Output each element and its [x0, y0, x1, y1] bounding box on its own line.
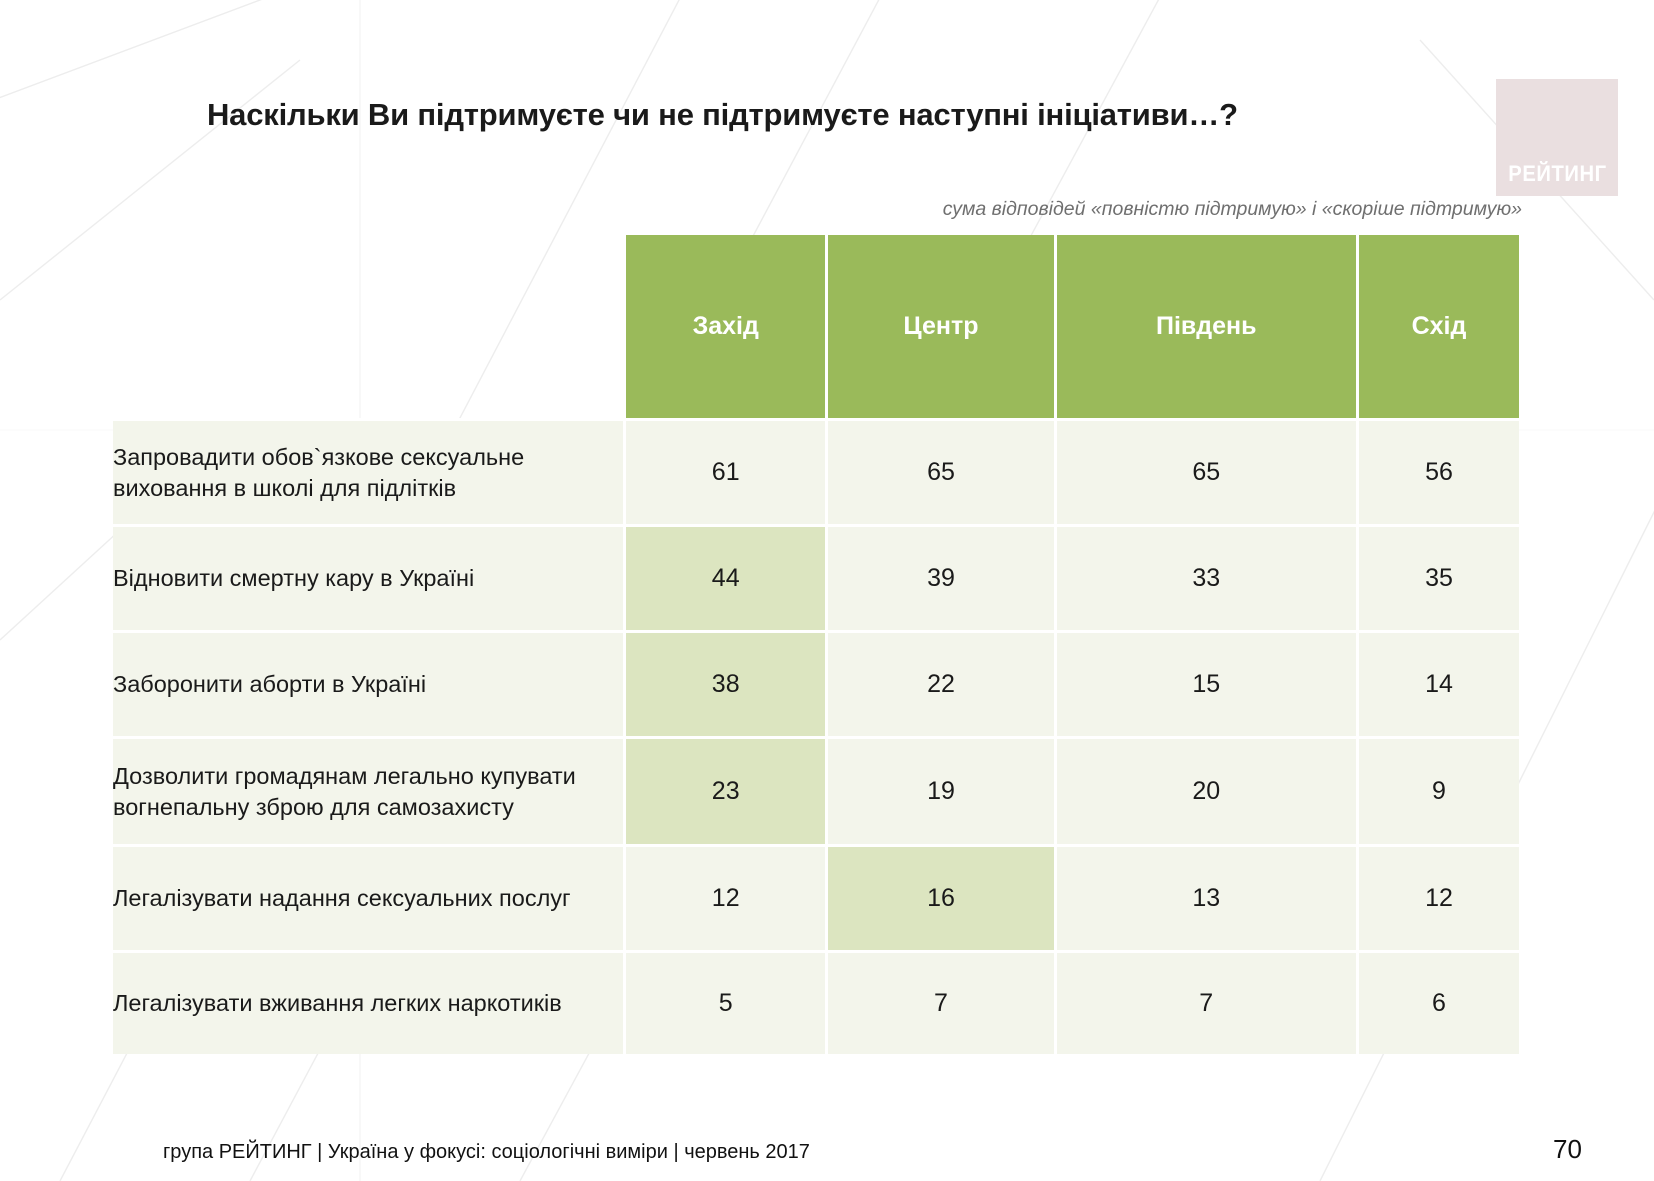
cell-value: 7 [1057, 950, 1359, 1054]
cell-value: 39 [828, 524, 1056, 630]
cell-value-highlighted: 44 [626, 524, 828, 630]
cell-value: 12 [1359, 844, 1519, 950]
cell-value: 35 [1359, 524, 1519, 630]
row-label: Заборонити аборти в Україні [113, 630, 626, 736]
table-row: Запровадити обов`язкове сексуальне вихов… [113, 418, 1519, 524]
cell-value-highlighted: 23 [626, 736, 828, 844]
cell-value: 13 [1057, 844, 1359, 950]
rating-logo-text: РЕЙТИНГ [1508, 161, 1606, 187]
cell-value-highlighted: 38 [626, 630, 828, 736]
column-header-pivden: Південь [1057, 235, 1359, 418]
row-label: Легалізувати надання сексуальних послуг [113, 844, 626, 950]
cell-value: 65 [1057, 418, 1359, 524]
cell-value: 6 [1359, 950, 1519, 1054]
cell-value: 61 [626, 418, 828, 524]
header-corner-blank [113, 235, 626, 418]
row-label: Легалізувати вживання легких наркотиків [113, 950, 626, 1054]
cell-value: 14 [1359, 630, 1519, 736]
cell-value: 33 [1057, 524, 1359, 630]
table-row: Дозволити громадянам легально купувати в… [113, 736, 1519, 844]
cell-value: 15 [1057, 630, 1359, 736]
column-header-tsentr: Центр [828, 235, 1056, 418]
cell-value: 9 [1359, 736, 1519, 844]
results-table: Захід Центр Південь Схід Запровадити обо… [113, 235, 1519, 1054]
row-label: Запровадити обов`язкове сексуальне вихов… [113, 418, 626, 524]
cell-value: 20 [1057, 736, 1359, 844]
chart-subtitle: сума відповідей «повністю підтримую» і «… [943, 198, 1522, 221]
cell-value: 56 [1359, 418, 1519, 524]
page-title: Наскільки Ви підтримуєте чи не підтримує… [207, 97, 1307, 133]
table-row: Легалізувати надання сексуальних послуг … [113, 844, 1519, 950]
footer-source: група РЕЙТИНГ | Україна у фокусі: соціол… [163, 1141, 810, 1164]
cell-value-highlighted: 16 [828, 844, 1056, 950]
table-row: Заборонити аборти в Україні 38 22 15 14 [113, 630, 1519, 736]
table-row: Відновити смертну кару в Україні 44 39 3… [113, 524, 1519, 630]
cell-value: 19 [828, 736, 1056, 844]
row-label: Дозволити громадянам легально купувати в… [113, 736, 626, 844]
cell-value: 7 [828, 950, 1056, 1054]
cell-value: 12 [626, 844, 828, 950]
column-header-skhid: Схід [1359, 235, 1519, 418]
cell-value: 65 [828, 418, 1056, 524]
page-number: 70 [1553, 1134, 1582, 1165]
table-body: Запровадити обов`язкове сексуальне вихов… [113, 418, 1519, 1054]
slide-canvas: Наскільки Ви підтримуєте чи не підтримує… [0, 0, 1654, 1181]
rating-logo: РЕЙТИНГ [1496, 79, 1618, 196]
cell-value: 22 [828, 630, 1056, 736]
table-row: Легалізувати вживання легких наркотиків … [113, 950, 1519, 1054]
table-header-row: Захід Центр Південь Схід [113, 235, 1519, 418]
cell-value: 5 [626, 950, 828, 1054]
column-header-zahid: Захід [626, 235, 828, 418]
row-label: Відновити смертну кару в Україні [113, 524, 626, 630]
